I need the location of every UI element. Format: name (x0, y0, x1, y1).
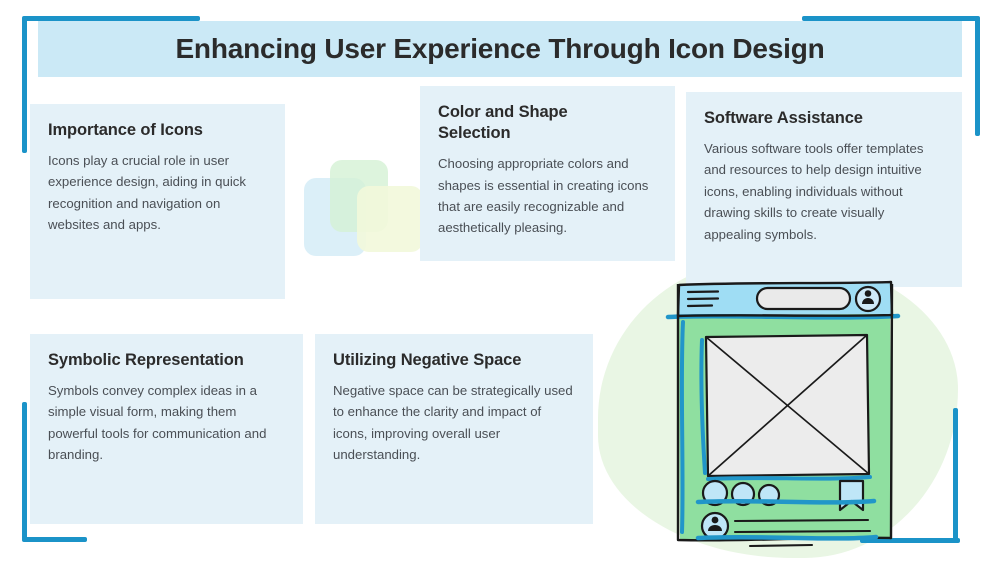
decor-square-yellow-green (357, 186, 423, 252)
card-body: Various software tools offer templates a… (704, 138, 944, 245)
page-title: Enhancing User Experience Through Icon D… (175, 33, 824, 65)
search-bar (757, 288, 850, 309)
accent-underline-bottom (698, 537, 876, 538)
accent-underline-reactions (698, 501, 874, 502)
text-line-3 (750, 545, 812, 546)
card-title: Software Assistance (704, 108, 944, 129)
card-body: Negative space can be strategically used… (333, 380, 575, 466)
accent-stroke-left (22, 410, 28, 470)
text-line-1 (735, 520, 868, 521)
card-title: Utilizing Negative Space (333, 350, 575, 371)
avatar-icon-top (856, 287, 880, 311)
card-title: Symbolic Representation (48, 350, 285, 371)
card-importance-of-icons: Importance of Icons Icons play a crucial… (30, 104, 285, 299)
accent-stroke-left-edge (682, 322, 683, 532)
card-title: Color and Shape Selection (438, 102, 608, 144)
social-post-wireframe-illustration (662, 272, 910, 557)
card-title: Importance of Icons (48, 120, 267, 141)
title-banner: Enhancing User Experience Through Icon D… (38, 21, 962, 77)
card-symbolic-representation: Symbolic Representation Symbols convey c… (30, 334, 303, 524)
image-placeholder (701, 335, 870, 479)
card-body: Choosing appropriate colors and shapes i… (438, 153, 657, 239)
card-utilizing-negative-space: Utilizing Negative Space Negative space … (315, 334, 593, 524)
text-line-2 (735, 531, 870, 532)
card-body: Icons play a crucial role in user experi… (48, 150, 267, 236)
card-color-and-shape-selection: Color and Shape Selection Choosing appro… (420, 86, 675, 261)
card-body: Symbols convey complex ideas in a simple… (48, 380, 285, 466)
card-software-assistance: Software Assistance Various software too… (686, 92, 962, 287)
infographic-canvas: Enhancing User Experience Through Icon D… (0, 0, 1000, 563)
